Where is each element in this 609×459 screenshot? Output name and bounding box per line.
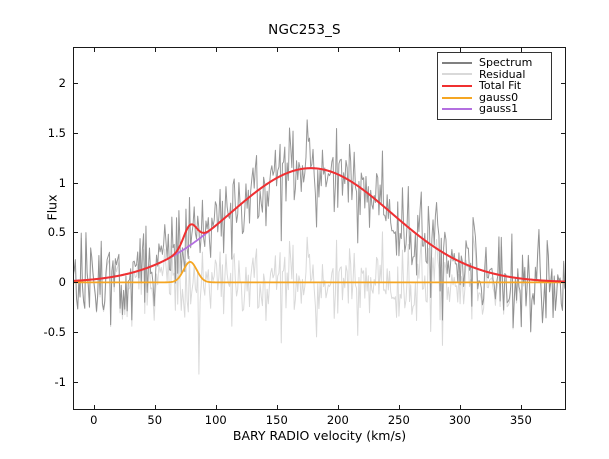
legend-swatch-icon [442,62,472,64]
y-tick-label: -0.5 [26,325,66,339]
x-tick-mark [338,405,339,410]
x-tick-mark [216,405,217,410]
legend-swatch-icon [442,108,472,110]
legend-swatch-icon [442,73,472,75]
x-tick-mark [155,405,156,410]
y-tick-mark [73,282,78,283]
y-tick-mark [73,83,78,84]
x-tick-mark [94,405,95,410]
x-tick-label: 100 [205,413,227,427]
x-tick-mark [277,405,278,410]
y-tick-mark [73,232,78,233]
x-tick-mark [338,47,339,52]
x-tick-label: 250 [388,413,410,427]
chart-title: NGC253_S [0,22,609,38]
y-tick-mark [561,83,566,84]
y-tick-label: 0.5 [26,225,66,239]
figure: NGC253_S Flux BARY RADIO velocity (km/s)… [0,0,609,459]
y-tick-mark [73,183,78,184]
x-tick-mark [460,405,461,410]
y-tick-mark [561,232,566,233]
x-tick-label: 150 [266,413,288,427]
y-tick-mark [561,382,566,383]
y-tick-label: 1 [26,176,66,190]
legend-item-spectrum: Spectrum [442,57,546,69]
legend-item-gauss1: gauss1 [442,103,546,115]
x-tick-mark [94,47,95,52]
chart-legend: SpectrumResidualTotal Fitgauss0gauss1 [437,52,552,120]
legend-label: gauss1 [479,103,518,115]
x-tick-label: 200 [327,413,349,427]
legend-label: Spectrum [479,57,532,69]
x-tick-mark [521,405,522,410]
y-tick-label: -1 [26,375,66,389]
x-tick-label: 300 [449,413,471,427]
legend-swatch-icon [442,85,472,87]
x-tick-mark [399,47,400,52]
y-axis-label: Flux [45,148,60,268]
legend-swatch-icon [442,97,472,99]
y-tick-label: 0 [26,275,66,289]
y-tick-mark [561,282,566,283]
y-tick-mark [73,332,78,333]
x-tick-mark [216,47,217,52]
x-tick-mark [155,47,156,52]
x-tick-mark [399,405,400,410]
x-tick-label: 350 [510,413,532,427]
y-tick-mark [561,183,566,184]
x-axis-label: BARY RADIO velocity (km/s) [73,428,566,443]
y-tick-mark [561,133,566,134]
y-tick-mark [73,133,78,134]
x-tick-mark [277,47,278,52]
y-tick-label: 1.5 [26,126,66,140]
x-tick-label: 0 [90,413,97,427]
y-tick-label: 2 [26,76,66,90]
x-tick-label: 50 [147,413,162,427]
y-tick-mark [561,332,566,333]
y-tick-mark [73,382,78,383]
